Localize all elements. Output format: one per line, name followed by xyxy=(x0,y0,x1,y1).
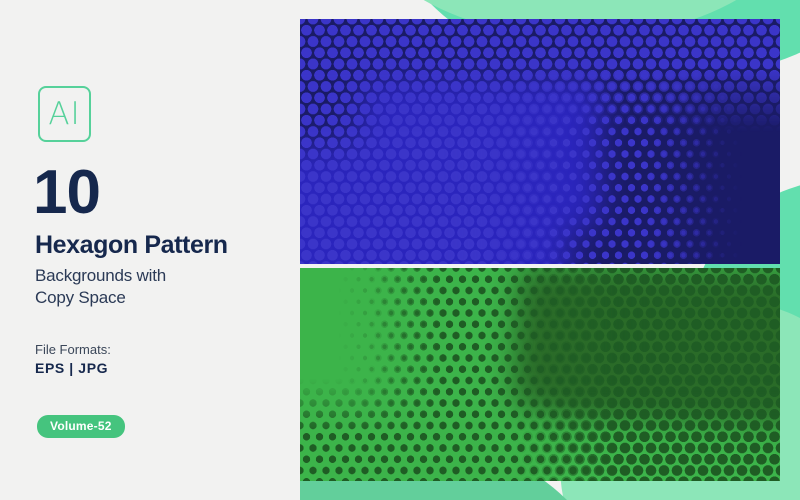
item-count: 10 xyxy=(33,162,100,224)
file-formats-value: EPS | JPG xyxy=(35,361,108,375)
poster-canvas: AI 10 Hexagon Pattern Backgrounds with C… xyxy=(0,0,800,500)
ai-format-badge: AI xyxy=(38,86,91,142)
page-title: Hexagon Pattern xyxy=(35,233,228,258)
blue-copy-space-region-secondary xyxy=(360,79,600,229)
page-subtitle-line-1: Backgrounds with xyxy=(35,265,166,287)
green-copy-space-region-secondary xyxy=(550,288,780,408)
file-formats-label: File Formats: xyxy=(35,343,111,356)
info-panel: AI 10 Hexagon Pattern Backgrounds with C… xyxy=(0,0,300,500)
volume-badge: Volume-52 xyxy=(37,415,125,438)
page-subtitle: Backgrounds with Copy Space xyxy=(35,265,166,310)
ai-format-badge-label: AI xyxy=(48,99,80,130)
page-subtitle-line-2: Copy Space xyxy=(35,287,166,309)
preview-green-hexagon-background xyxy=(300,268,780,481)
preview-blue-hexagon-background xyxy=(300,19,780,264)
